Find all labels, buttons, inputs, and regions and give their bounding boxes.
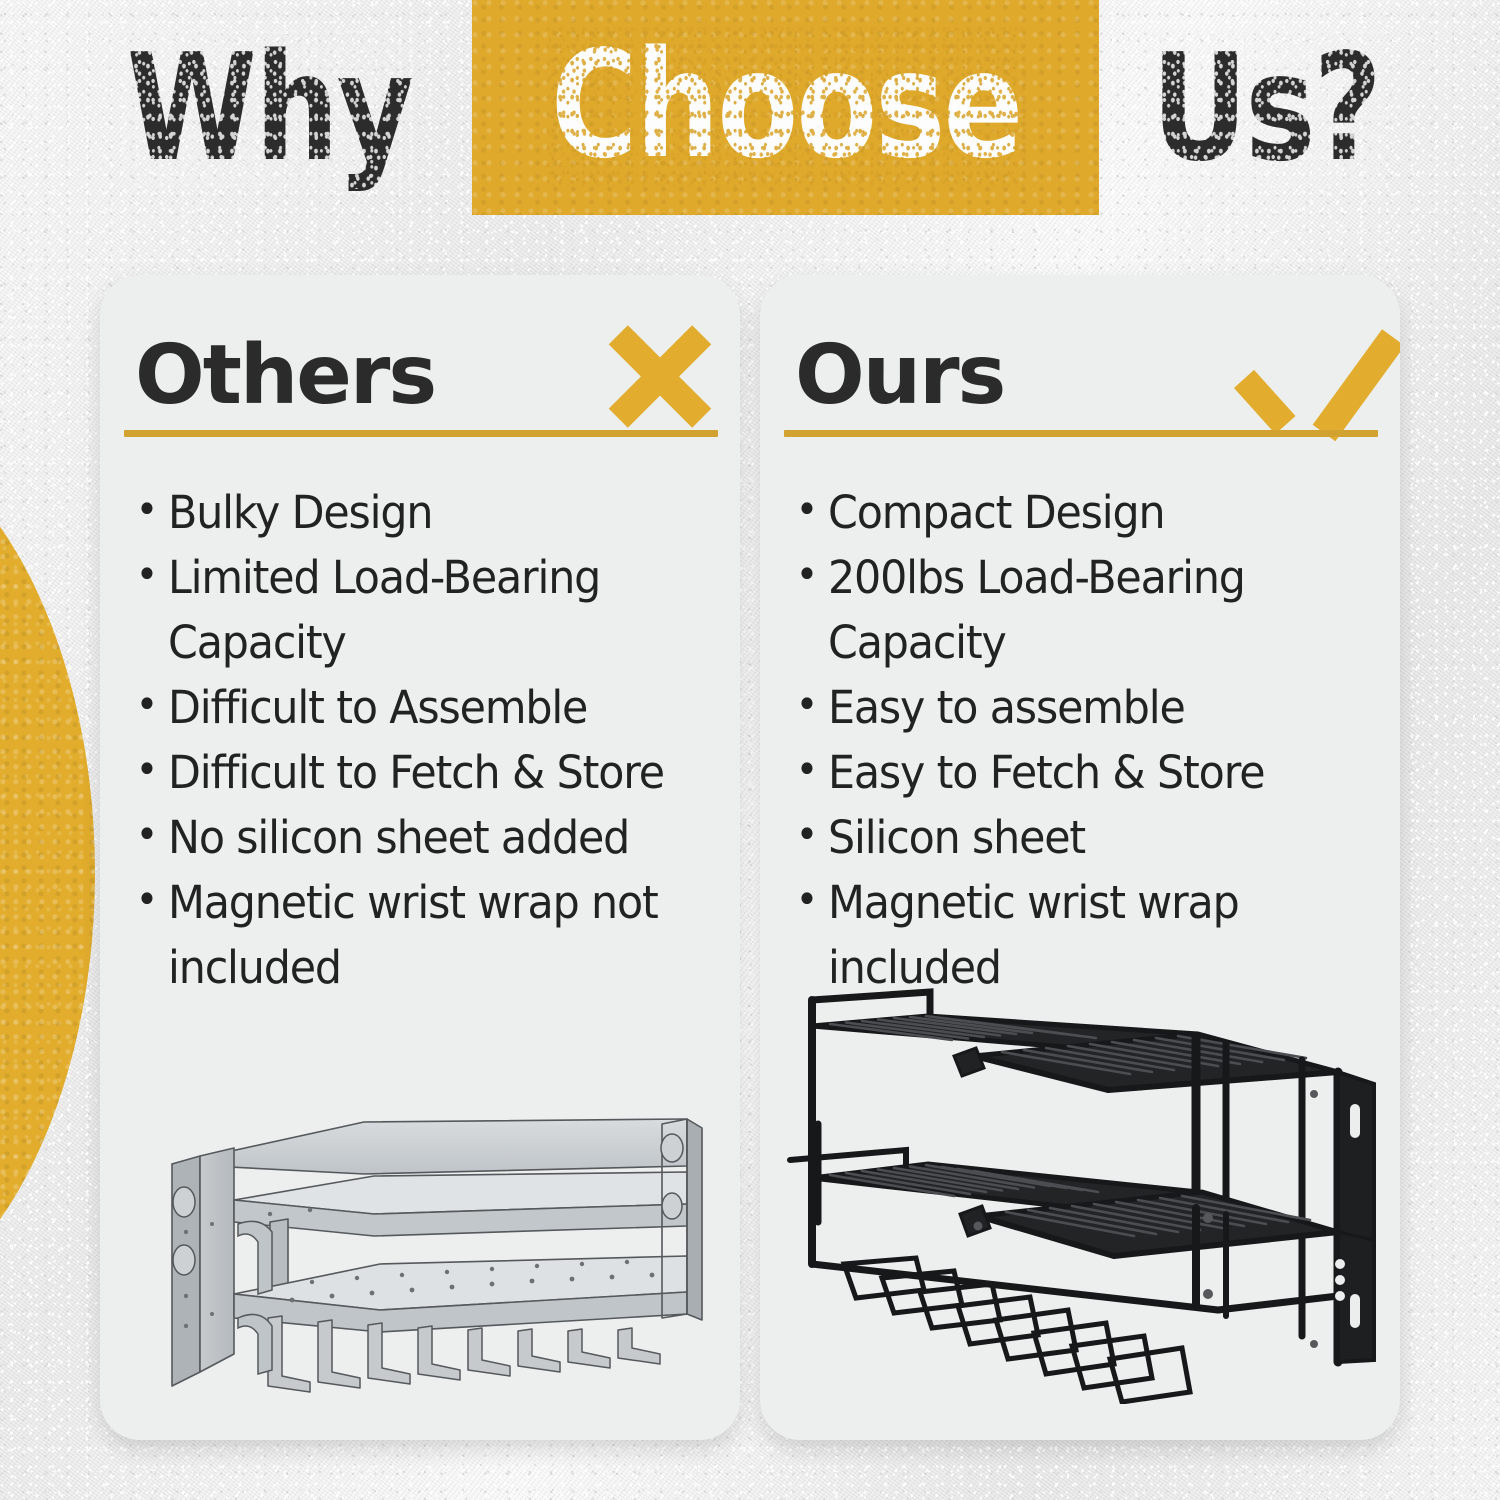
product-image-ours bbox=[778, 964, 1388, 1404]
comparison-card-others: Others Bulky Design Limited Load-Bearing… bbox=[100, 275, 740, 1440]
feature-list-ours: Compact Design 200lbs Load-Bearing Capac… bbox=[790, 480, 1386, 1000]
check-icon bbox=[1250, 329, 1372, 423]
list-item: Silicon sheet bbox=[790, 805, 1356, 870]
card-header-ours: Ours bbox=[795, 323, 1372, 428]
list-item: Difficult to Assemble bbox=[130, 675, 696, 740]
list-item: Bulky Design bbox=[130, 480, 696, 545]
title-highlight-block: Choose bbox=[472, 0, 1100, 215]
list-item: Limited Load-Bearing Capacity bbox=[130, 545, 696, 675]
card-header-others: Others bbox=[135, 323, 712, 428]
product-image-others bbox=[142, 1104, 712, 1404]
page-title: Why Choose Us? bbox=[0, 0, 1500, 215]
feature-list-others: Bulky Design Limited Load-Bearing Capaci… bbox=[130, 480, 726, 1000]
list-item: Easy to Fetch & Store bbox=[790, 740, 1356, 805]
card-title-others: Others bbox=[135, 333, 435, 419]
card-divider-others bbox=[124, 430, 718, 437]
list-item: No silicon sheet added bbox=[130, 805, 696, 870]
card-divider-ours bbox=[784, 430, 1378, 437]
comparison-card-ours: Ours Compact Design 200lbs Load-Bearing … bbox=[760, 275, 1400, 1440]
list-item: Compact Design bbox=[790, 480, 1356, 545]
title-word-us: Us? bbox=[1152, 33, 1380, 183]
title-word-why: Why bbox=[127, 33, 412, 183]
list-item: Easy to assemble bbox=[790, 675, 1356, 740]
list-item: 200lbs Load-Bearing Capacity bbox=[790, 545, 1356, 675]
cross-icon bbox=[608, 329, 712, 423]
list-item: Magnetic wrist wrap not included bbox=[130, 870, 696, 1000]
card-title-ours: Ours bbox=[795, 333, 1004, 419]
title-word-choose: Choose bbox=[550, 30, 1020, 180]
list-item: Difficult to Fetch & Store bbox=[130, 740, 696, 805]
